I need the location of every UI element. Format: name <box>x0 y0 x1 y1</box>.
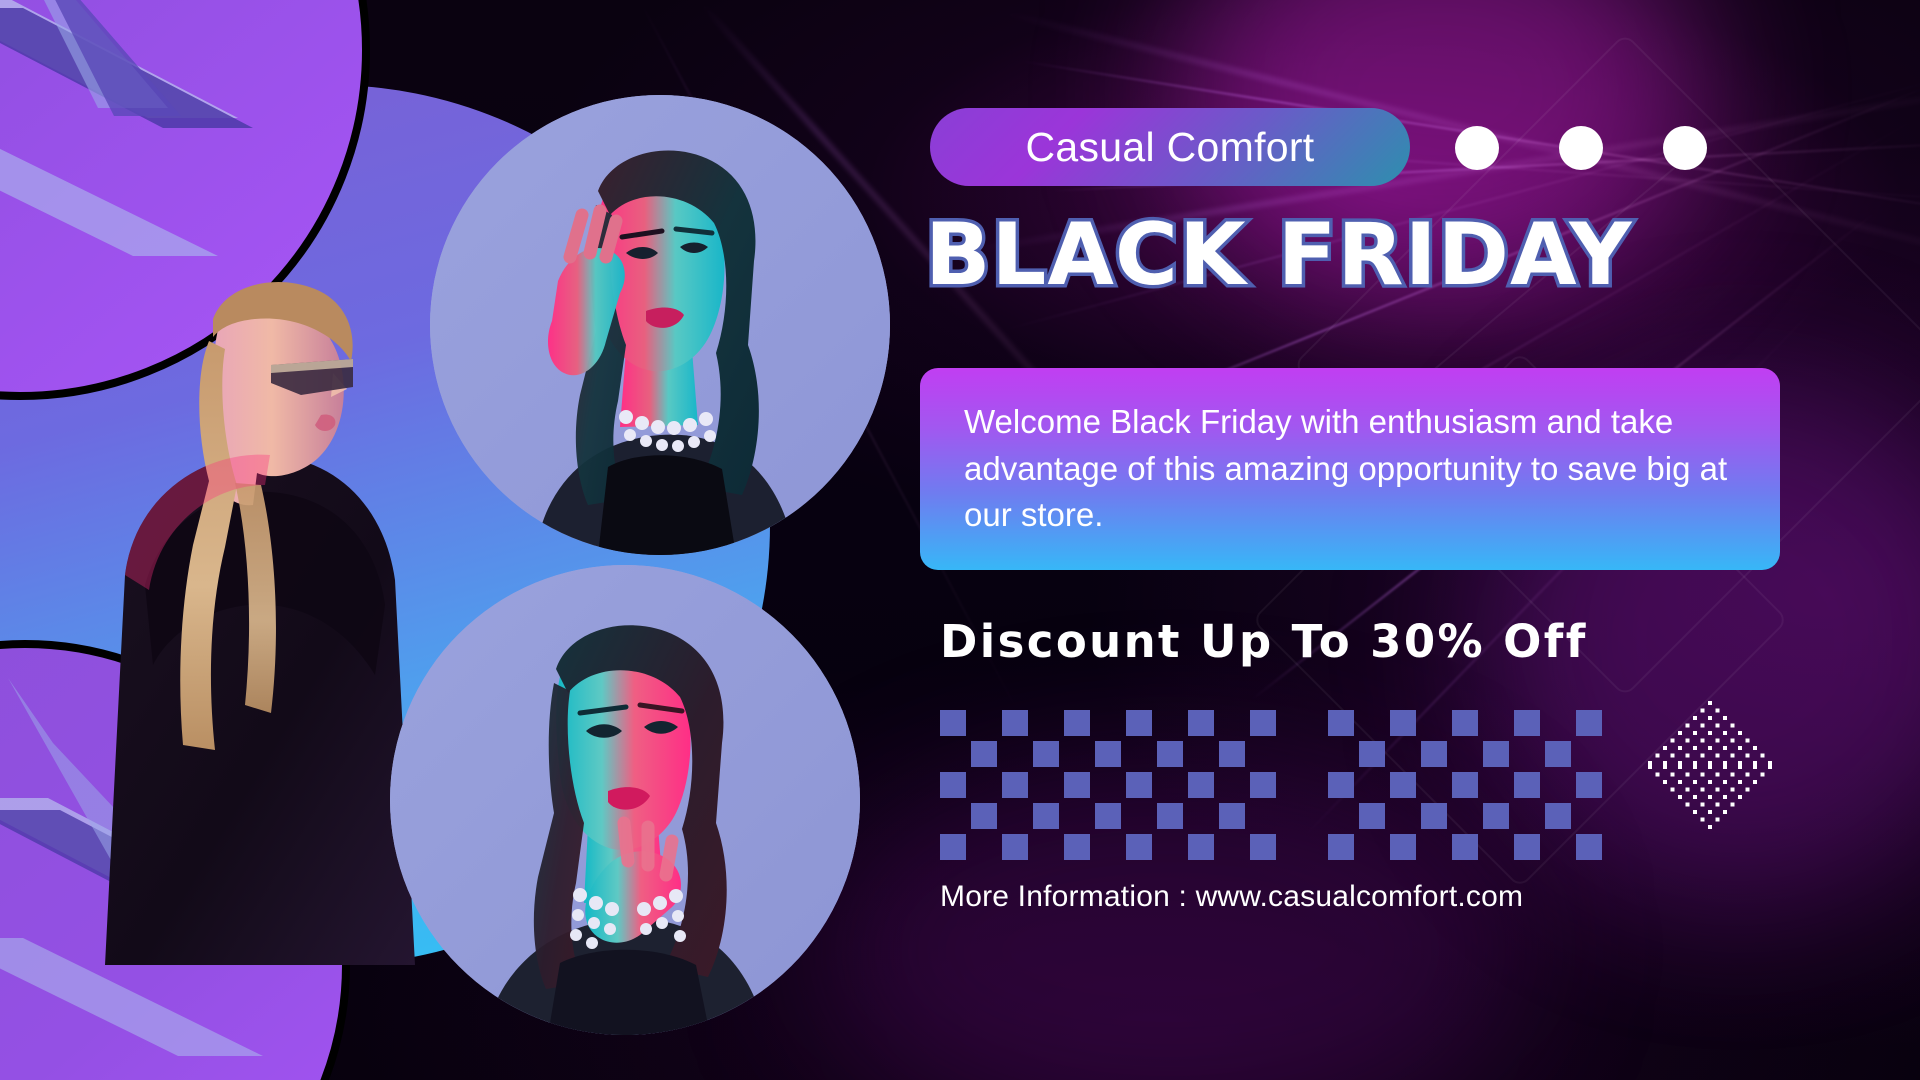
checker-cell <box>971 772 997 798</box>
ornament-dot <box>1768 761 1772 765</box>
ornament-dot <box>1693 761 1697 765</box>
ornament-dot <box>1723 746 1727 750</box>
checkerboard-block-2 <box>1328 710 1602 860</box>
checker-cell <box>1576 710 1602 736</box>
checker-cell <box>1250 834 1276 860</box>
checker-cell <box>1483 772 1509 798</box>
checker-cell <box>1250 803 1276 829</box>
more-information-line: More Information : www.casualcomfort.com <box>940 880 1523 914</box>
ornament-dot <box>1686 724 1690 728</box>
checker-cell <box>1188 772 1214 798</box>
checker-cell <box>940 741 966 767</box>
ornament-dot <box>1708 810 1712 814</box>
checker-cell <box>1545 803 1571 829</box>
checker-cell <box>971 834 997 860</box>
ornament-dot <box>1738 746 1742 750</box>
checker-cell <box>1390 741 1416 767</box>
ornament-dot <box>1693 716 1697 720</box>
checker-cell <box>1576 803 1602 829</box>
ornament-dot <box>1678 761 1682 765</box>
checker-cell <box>1126 741 1152 767</box>
ornament-dot <box>1746 739 1750 743</box>
checker-cell <box>1219 803 1245 829</box>
ornament-dot <box>1761 754 1765 758</box>
checker-cell <box>1219 741 1245 767</box>
checker-cell <box>971 803 997 829</box>
checker-cell <box>1126 834 1152 860</box>
checker-cell <box>1250 772 1276 798</box>
checker-cell <box>1126 772 1152 798</box>
ornament-dot <box>1701 709 1705 713</box>
checker-cell <box>1095 710 1121 736</box>
checker-cell <box>1002 834 1028 860</box>
ornament-dot <box>1708 731 1712 735</box>
ornament-dot <box>1716 724 1720 728</box>
ornament-dot <box>1716 773 1720 777</box>
ornament-dot <box>1731 724 1735 728</box>
ornament-dot <box>1678 731 1682 735</box>
ornament-dot <box>1708 780 1712 784</box>
ornament-dot <box>1738 765 1742 769</box>
checker-cell <box>1095 834 1121 860</box>
content-column: Casual Comfort BLACK FRIDAY Welcome Blac… <box>930 0 1780 1080</box>
model-portrait-upper <box>430 95 890 555</box>
ornament-dot <box>1701 724 1705 728</box>
ornament-dot <box>1723 810 1727 814</box>
ornament-dot <box>1731 803 1735 807</box>
checker-cell <box>1219 710 1245 736</box>
ornament-dot <box>1723 761 1727 765</box>
checker-cell <box>1157 741 1183 767</box>
checker-cell <box>1328 772 1354 798</box>
checker-cell <box>1064 741 1090 767</box>
checker-cell <box>1390 834 1416 860</box>
ornament-dot <box>1663 765 1667 769</box>
ornament-dot <box>1768 765 1772 769</box>
ornament-dot <box>1708 716 1712 720</box>
checker-cell <box>1514 834 1540 860</box>
ornament-dot <box>1678 780 1682 784</box>
discount-headline: Discount Up To 30% Off <box>940 615 1780 668</box>
ornament-dot <box>1738 761 1742 765</box>
checker-cell <box>1483 741 1509 767</box>
ornament-dot <box>1693 765 1697 769</box>
ornament-dot <box>1708 825 1712 829</box>
checker-cell <box>940 803 966 829</box>
ornament-dot <box>1663 761 1667 765</box>
checker-cell <box>1033 772 1059 798</box>
checker-cell <box>1421 741 1447 767</box>
checker-cell <box>1157 803 1183 829</box>
checker-cell <box>1002 741 1028 767</box>
checker-cell <box>1421 772 1447 798</box>
checker-cell <box>1421 710 1447 736</box>
checker-cell <box>1390 710 1416 736</box>
ornament-dot <box>1701 773 1705 777</box>
ornament-dot <box>1716 788 1720 792</box>
checker-cell <box>1328 710 1354 736</box>
checker-cell <box>1002 772 1028 798</box>
checker-cell <box>1328 834 1354 860</box>
checkerboard-block-1 <box>940 710 1276 860</box>
ornament-dot <box>1671 739 1675 743</box>
checker-cell <box>1064 710 1090 736</box>
ornament-dot <box>1723 765 1727 769</box>
checker-cell <box>1390 772 1416 798</box>
decor-dots-group <box>1455 126 1707 170</box>
checker-cell <box>1064 834 1090 860</box>
ornament-dot <box>1753 761 1757 765</box>
ornament-dot <box>1678 765 1682 769</box>
checker-cell <box>1033 834 1059 860</box>
checker-cell <box>1033 710 1059 736</box>
checker-cell <box>1514 710 1540 736</box>
description-panel: Welcome Black Friday with enthusiasm and… <box>920 368 1780 570</box>
ornament-dot <box>1731 773 1735 777</box>
checker-cell <box>1157 710 1183 736</box>
checker-cell <box>1157 772 1183 798</box>
ornament-dot <box>1701 803 1705 807</box>
ornament-dot <box>1693 810 1697 814</box>
checker-cell <box>1545 834 1571 860</box>
checker-cell <box>1421 834 1447 860</box>
ornament-dot <box>1686 773 1690 777</box>
ornament-dot <box>1753 746 1757 750</box>
checker-cell <box>1033 803 1059 829</box>
checker-cell <box>1452 803 1478 829</box>
checker-cell <box>940 710 966 736</box>
checker-cell <box>1514 803 1540 829</box>
checker-cell <box>1452 710 1478 736</box>
checker-cell <box>1033 741 1059 767</box>
checker-cell <box>1064 803 1090 829</box>
checkerboard-group <box>940 710 1602 860</box>
ornament-dot <box>1686 739 1690 743</box>
ornament-dot <box>1746 788 1750 792</box>
checker-cell <box>1188 741 1214 767</box>
checker-cell <box>1250 710 1276 736</box>
ornament-dot <box>1648 765 1652 769</box>
checker-cell <box>1126 803 1152 829</box>
checker-cell <box>1219 834 1245 860</box>
ornament-dot <box>1746 773 1750 777</box>
hourglass-dots-icon <box>1645 685 1775 845</box>
ornament-dot <box>1663 746 1667 750</box>
checker-cell <box>971 710 997 736</box>
hourglass-dot-ornament <box>1645 685 1775 850</box>
ornament-dot <box>1708 795 1712 799</box>
checker-cell <box>1576 834 1602 860</box>
ornament-dot <box>1731 754 1735 758</box>
checker-cell <box>1359 741 1385 767</box>
checker-cell <box>940 834 966 860</box>
checker-cell <box>1359 710 1385 736</box>
ornament-dot <box>1738 780 1742 784</box>
checker-cell <box>1390 803 1416 829</box>
checker-cell <box>1126 710 1152 736</box>
ornament-dot <box>1701 754 1705 758</box>
ornament-dot <box>1716 818 1720 822</box>
ornament-dot <box>1716 803 1720 807</box>
checker-cell <box>1483 834 1509 860</box>
ornament-dot <box>1708 761 1712 765</box>
ornament-dot <box>1761 773 1765 777</box>
ornament-dot <box>1716 754 1720 758</box>
ornament-dot <box>1693 731 1697 735</box>
brand-pill-label: Casual Comfort <box>1025 124 1314 171</box>
checker-cell <box>1095 741 1121 767</box>
ornament-dot <box>1708 701 1712 705</box>
black-friday-promo-banner: Casual Comfort BLACK FRIDAY Welcome Blac… <box>0 0 1920 1080</box>
ornament-dot <box>1723 795 1727 799</box>
ornament-dot <box>1671 788 1675 792</box>
checker-cell <box>1514 741 1540 767</box>
checker-cell <box>1576 741 1602 767</box>
ornament-dot <box>1738 795 1742 799</box>
checker-cell <box>1064 772 1090 798</box>
ornament-dot <box>1753 780 1757 784</box>
ornament-dot <box>1716 739 1720 743</box>
ornament-dot <box>1701 788 1705 792</box>
ornament-dot <box>1693 780 1697 784</box>
description-text: Welcome Black Friday with enthusiasm and… <box>920 399 1780 540</box>
ornament-dot <box>1686 803 1690 807</box>
checker-cell <box>1545 772 1571 798</box>
checker-cell <box>971 741 997 767</box>
ornament-dot <box>1671 773 1675 777</box>
checker-cell <box>1002 803 1028 829</box>
checker-cell <box>1328 803 1354 829</box>
portrait-lower-art <box>390 565 860 1035</box>
ornament-dot <box>1663 780 1667 784</box>
ornament-dot <box>1678 795 1682 799</box>
ornament-dot <box>1686 754 1690 758</box>
ornament-dot <box>1723 731 1727 735</box>
checker-cell <box>1359 772 1385 798</box>
checker-cell <box>1250 741 1276 767</box>
ornament-dot <box>1731 788 1735 792</box>
ornament-dot <box>1746 754 1750 758</box>
ornament-dot <box>1708 746 1712 750</box>
ornament-dot <box>1731 739 1735 743</box>
checker-cell <box>1328 741 1354 767</box>
ornament-dot <box>1656 773 1660 777</box>
checker-cell <box>1095 803 1121 829</box>
checker-cell <box>1095 772 1121 798</box>
ornament-dot <box>1693 746 1697 750</box>
checker-cell <box>1188 834 1214 860</box>
checker-cell <box>1002 710 1028 736</box>
checker-cell <box>1219 772 1245 798</box>
ornament-dot <box>1738 731 1742 735</box>
checker-cell <box>1188 803 1214 829</box>
ornament-dot <box>1701 739 1705 743</box>
model-portrait-lower <box>390 565 860 1035</box>
ornament-dot <box>1701 818 1705 822</box>
page-title: BLACK FRIDAY <box>925 205 1785 305</box>
decor-dot-1 <box>1455 126 1499 170</box>
ornament-dot <box>1716 709 1720 713</box>
checker-cell <box>1545 710 1571 736</box>
checker-cell <box>940 772 966 798</box>
checker-cell <box>1188 710 1214 736</box>
decor-dot-3 <box>1663 126 1707 170</box>
portrait-upper-art <box>430 95 890 555</box>
checker-cell <box>1514 772 1540 798</box>
checker-cell <box>1483 803 1509 829</box>
ornament-dot <box>1693 795 1697 799</box>
checker-cell <box>1576 772 1602 798</box>
ornament-dot <box>1656 754 1660 758</box>
checker-cell <box>1421 803 1447 829</box>
ornament-dot <box>1671 754 1675 758</box>
ornament-dot <box>1648 761 1652 765</box>
checker-cell <box>1359 834 1385 860</box>
checker-cell <box>1483 710 1509 736</box>
ornament-dot <box>1723 780 1727 784</box>
checker-cell <box>1359 803 1385 829</box>
checker-cell <box>1452 772 1478 798</box>
checker-cell <box>1452 834 1478 860</box>
brand-pill[interactable]: Casual Comfort <box>930 108 1410 186</box>
ornament-dot <box>1708 765 1712 769</box>
checker-cell <box>1452 741 1478 767</box>
ornament-dot <box>1686 788 1690 792</box>
checker-cell <box>1157 834 1183 860</box>
ornament-dot <box>1678 746 1682 750</box>
ornament-dot <box>1753 765 1757 769</box>
checker-cell <box>1545 741 1571 767</box>
decor-dot-2 <box>1559 126 1603 170</box>
ornament-dot <box>1723 716 1727 720</box>
